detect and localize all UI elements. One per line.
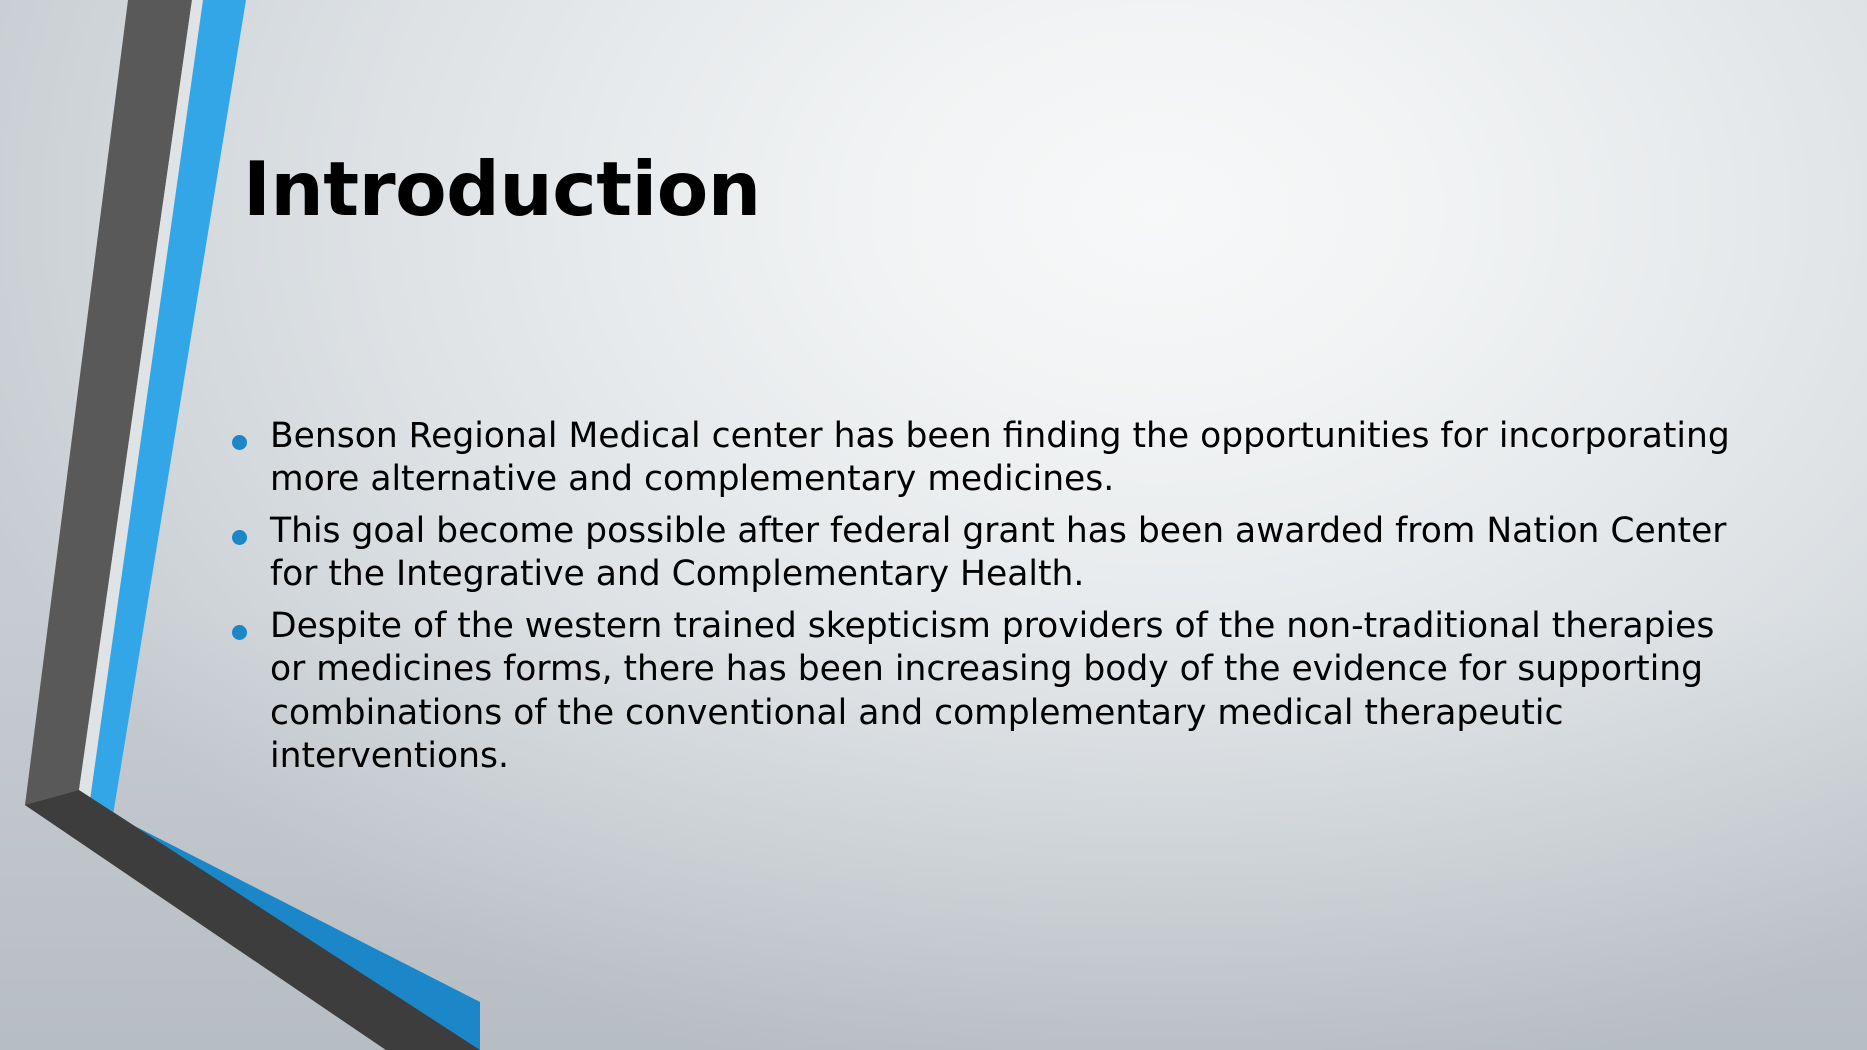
list-item-text: This goal become possible after federal … [270,510,1752,597]
chevron-separator-upper [79,0,203,800]
bullet-dot-icon [232,625,247,640]
list-item: This goal become possible after federal … [232,510,1752,597]
chevron-gray-lower-extend [25,790,480,1050]
list-item: Despite of the western trained skepticis… [232,605,1752,779]
slide-title: Introduction [243,150,1443,229]
bullet-dot-icon [232,435,247,450]
list-item-text: Benson Regional Medical center has been … [270,415,1752,502]
bullet-marker [232,510,270,545]
chevron-blue-upper [90,0,246,815]
chevron-separator-lower [79,790,480,1050]
chevron-gray-upper [25,0,192,805]
bullet-dot-icon [232,530,247,545]
list-item: Benson Regional Medical center has been … [232,415,1752,502]
chevron-blue-lower-extend [90,800,480,1050]
list-item-text: Despite of the western trained skepticis… [270,605,1752,779]
chevron-gray-lower [25,790,480,1050]
slide-body-bullet-list: Benson Regional Medical center has been … [232,415,1752,787]
presentation-slide: Introduction Benson Regional Medical cen… [0,0,1867,1050]
bullet-marker [232,605,270,640]
chevron-blue-lower [90,800,480,1050]
bullet-marker [232,415,270,450]
